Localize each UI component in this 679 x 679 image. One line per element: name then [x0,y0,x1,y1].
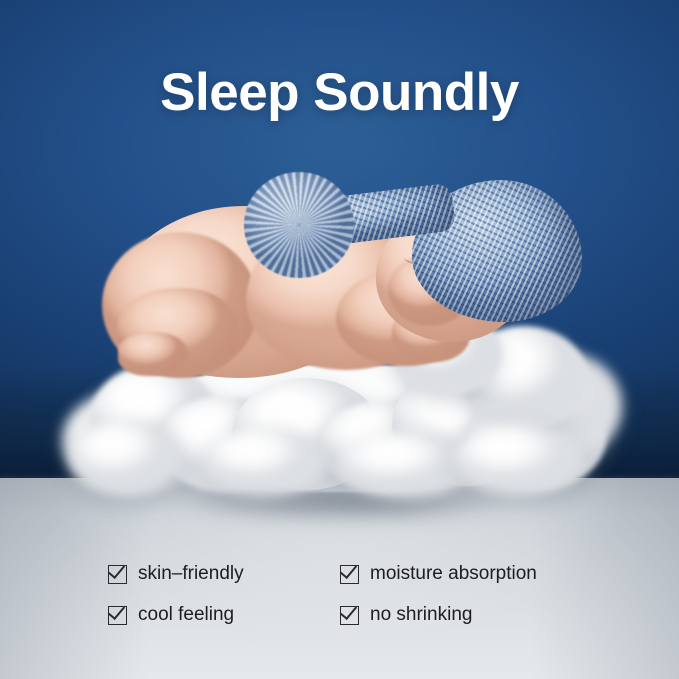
feature-label: skin–friendly [138,563,244,585]
cloud-puff [70,420,182,496]
list-item: no shrinking [340,604,578,626]
product-image: Sleep Soundly [0,0,679,679]
check-icon [108,606,127,625]
check-icon [340,606,359,625]
feature-label: cool feeling [138,604,234,626]
hat-pom-pom [244,172,354,278]
list-item: cool feeling [108,604,340,626]
check-icon [340,565,359,584]
feature-label: moisture absorption [370,563,537,585]
cloud-puff [338,432,474,498]
check-icon [108,565,127,584]
list-item: skin–friendly [108,563,340,585]
page-title: Sleep Soundly [0,62,679,123]
cloud-puff [454,424,584,496]
feature-label: no shrinking [370,604,472,626]
sleeping-baby [96,162,586,392]
list-item: moisture absorption [340,563,578,585]
feature-list: skin–friendly moisture absorption cool f… [108,563,578,626]
cloud-puff [202,428,328,496]
